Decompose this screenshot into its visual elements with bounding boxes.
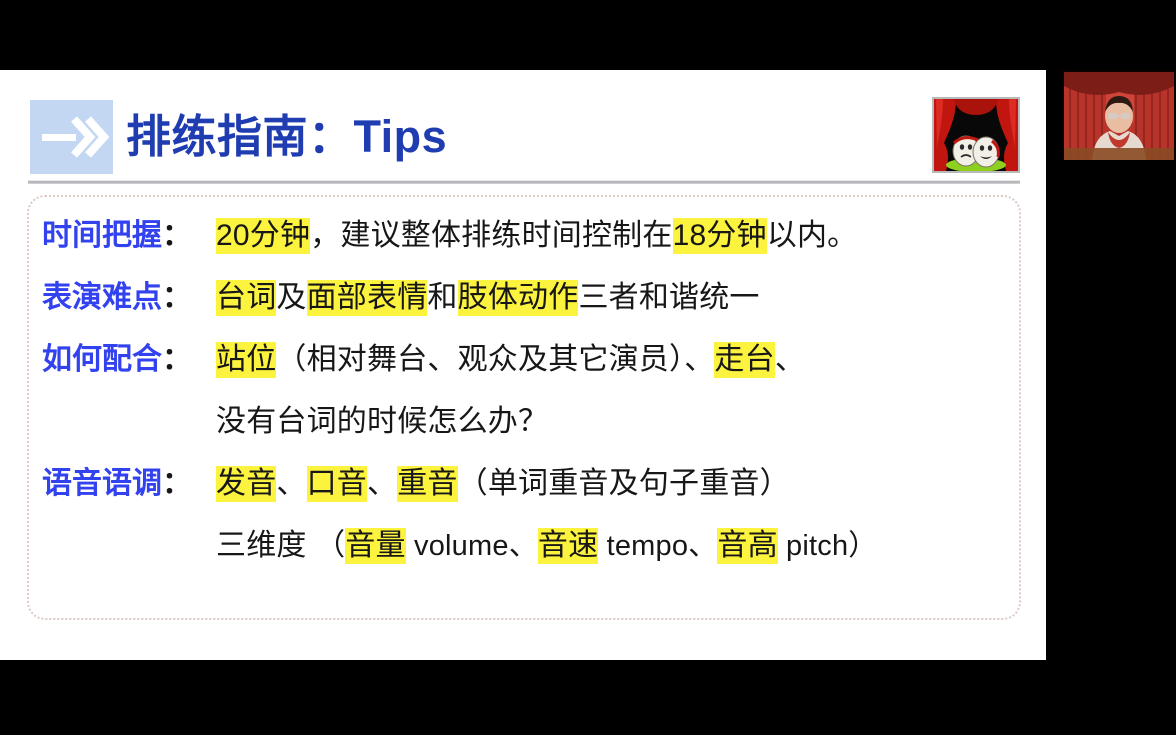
highlighted-text: 音速 (538, 528, 598, 564)
body-text: 、 (276, 467, 306, 500)
body-text: 、 (775, 343, 805, 376)
tips-row: 语音语调：发音、口音、重音（单词重音及句子重音） (40, 458, 1020, 520)
highlighted-text: 18分钟 (673, 218, 767, 254)
highlighted-text: 音量 (345, 528, 405, 564)
tips-row-label-text: 语音语调 (42, 467, 162, 500)
tips-row-body: 台词及面部表情和肢体动作三者和谐统一 (216, 272, 1020, 316)
highlighted-text: 站位 (216, 342, 276, 378)
participant-video-tile[interactable] (1062, 70, 1176, 188)
body-text: tempo、 (598, 530, 717, 562)
tips-row-colon: ： (162, 343, 192, 376)
tips-row-body: 站位（相对舞台、观众及其它演员）、走台、 (216, 334, 1020, 378)
tips-row-label-text: 时间把握 (42, 219, 162, 252)
body-text: volume、 (406, 530, 538, 562)
highlighted-text: 肢体动作 (458, 280, 579, 316)
body-text: ，建议整体排练时间控制在 (310, 219, 672, 252)
body-text: （相对舞台、观众及其它演员）、 (276, 343, 714, 376)
tips-row-label-text: 如何配合 (42, 343, 162, 376)
tips-row: 表演难点：台词及面部表情和肢体动作三者和谐统一 (40, 272, 1020, 334)
tips-row-colon: ： (162, 219, 192, 252)
highlighted-text: 台词 (216, 280, 276, 316)
tips-list: 时间把握：20分钟，建议整体排练时间控制在18分钟以内。表演难点：台词及面部表情… (40, 210, 1020, 582)
tips-row-colon: ： (162, 467, 192, 500)
presentation-slide: 排练指南：Tips (0, 70, 1046, 660)
tips-row: 三维度 （音量 volume、音速 tempo、音高 pitch） (40, 520, 1020, 582)
body-text: pitch） (778, 530, 878, 562)
highlighted-text: 发音 (216, 466, 276, 502)
tips-row-body: 没有台词的时候怎么办？ (216, 396, 1020, 440)
body-text: 没有台词的时候怎么办？ (216, 405, 548, 438)
tips-row-body: 20分钟，建议整体排练时间控制在18分钟以内。 (216, 210, 1020, 254)
highlighted-text: 面部表情 (307, 280, 428, 316)
highlighted-text: 音高 (717, 528, 777, 564)
body-text: 三者和谐统一 (578, 281, 759, 314)
body-text: 以内。 (767, 219, 858, 252)
screen-root: 排练指南：Tips (0, 0, 1176, 735)
tips-row: 没有台词的时候怎么办？ (40, 396, 1020, 458)
page-title: 排练指南：Tips (126, 106, 447, 168)
theater-masks-curtain-image (932, 97, 1020, 173)
body-text: 和 (427, 281, 457, 314)
tips-row-label: 语音语调： (40, 458, 216, 502)
highlighted-text: 走台 (714, 342, 774, 378)
body-text: 及 (276, 281, 306, 314)
tips-row-label-text: 表演难点 (42, 281, 162, 314)
tips-row-label: 时间把握： (40, 210, 216, 254)
body-text: 三维度 （ (216, 529, 345, 562)
highlighted-text: 口音 (307, 466, 367, 502)
highlighted-text: 20分钟 (216, 218, 310, 254)
body-text: （单词重音及句子重音） (458, 467, 790, 500)
double-chevron-right-arrow-icon (30, 100, 113, 174)
tips-row: 如何配合：站位（相对舞台、观众及其它演员）、走台、 (40, 334, 1020, 396)
tips-row-body: 三维度 （音量 volume、音速 tempo、音高 pitch） (216, 520, 1020, 564)
header-divider (28, 180, 1020, 184)
highlighted-text: 重音 (397, 466, 457, 502)
tips-row-body: 发音、口音、重音（单词重音及句子重音） (216, 458, 1020, 502)
tips-row-label: 如何配合： (40, 334, 216, 378)
tips-row-colon: ： (162, 281, 192, 314)
tips-row: 时间把握：20分钟，建议整体排练时间控制在18分钟以内。 (40, 210, 1020, 272)
tips-row-label: 表演难点： (40, 272, 216, 316)
body-text: 、 (367, 467, 397, 500)
